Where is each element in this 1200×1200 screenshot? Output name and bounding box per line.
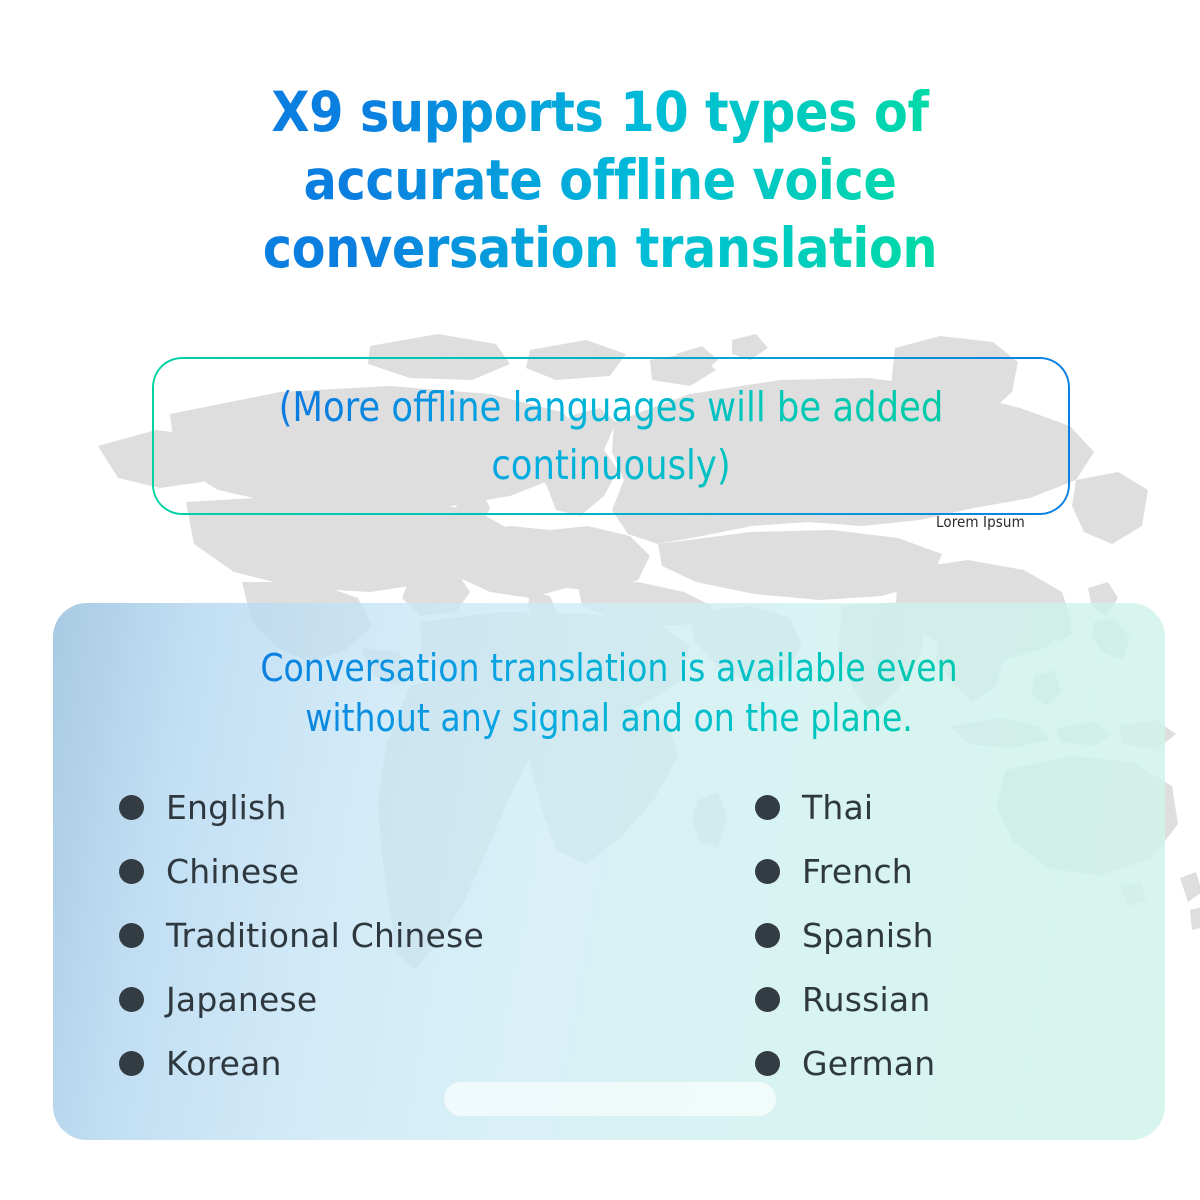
filled-circle-icon <box>119 795 144 820</box>
languages-card: Conversation translation is available ev… <box>53 603 1165 1140</box>
language-label: Chinese <box>166 852 299 891</box>
language-label: Thai <box>802 788 873 827</box>
page-title: X9 supports 10 types of accurate offline… <box>186 78 1014 282</box>
list-item[interactable]: French <box>755 839 1165 903</box>
lorem-ipsum-caption: Lorem Ipsum <box>936 513 1025 531</box>
note-box-line-1: (More offline languages will be added <box>170 378 1051 436</box>
language-column-right: Thai French Spanish Russian German <box>733 775 1165 1095</box>
list-item[interactable]: German <box>755 1031 1165 1095</box>
language-label: Russian <box>802 980 930 1019</box>
list-item[interactable]: English <box>119 775 733 839</box>
filled-circle-icon <box>755 1051 780 1076</box>
language-column-left: English Chinese Traditional Chinese Japa… <box>53 775 733 1095</box>
filled-circle-icon <box>119 859 144 884</box>
list-item[interactable]: Chinese <box>119 839 733 903</box>
bottom-placeholder-pill <box>444 1082 776 1116</box>
poster-root: X9 supports 10 types of accurate offline… <box>0 0 1200 1200</box>
list-item[interactable]: Russian <box>755 967 1165 1031</box>
page-title-line-3: conversation translation <box>186 214 1014 282</box>
page-title-line-2: accurate offline voice <box>186 146 1014 214</box>
language-label: English <box>166 788 287 827</box>
card-headline-line-1: Conversation translation is available ev… <box>128 643 1090 693</box>
language-label: Japanese <box>166 980 317 1019</box>
list-item[interactable]: Spanish <box>755 903 1165 967</box>
card-headline-line-2: without any signal and on the plane. <box>128 693 1090 743</box>
note-box-line-2: continuously) <box>170 436 1051 494</box>
list-item[interactable]: Traditional Chinese <box>119 903 733 967</box>
language-label: Spanish <box>802 916 934 955</box>
language-label: Traditional Chinese <box>166 916 484 955</box>
note-box-text-inner: (More offline languages will be added co… <box>170 378 1051 494</box>
language-columns: English Chinese Traditional Chinese Japa… <box>53 775 1165 1095</box>
list-item[interactable]: Thai <box>755 775 1165 839</box>
language-label: Korean <box>166 1044 282 1083</box>
page-title-line-1: X9 supports 10 types of <box>186 78 1014 146</box>
list-item[interactable]: Japanese <box>119 967 733 1031</box>
filled-circle-icon <box>119 1051 144 1076</box>
filled-circle-icon <box>119 987 144 1012</box>
filled-circle-icon <box>755 987 780 1012</box>
filled-circle-icon <box>755 795 780 820</box>
filled-circle-icon <box>755 923 780 948</box>
language-label: French <box>802 852 913 891</box>
note-box-text: (More offline languages will be added co… <box>170 357 1051 515</box>
card-headline: Conversation translation is available ev… <box>128 643 1090 743</box>
language-label: German <box>802 1044 935 1083</box>
filled-circle-icon <box>119 923 144 948</box>
filled-circle-icon <box>755 859 780 884</box>
